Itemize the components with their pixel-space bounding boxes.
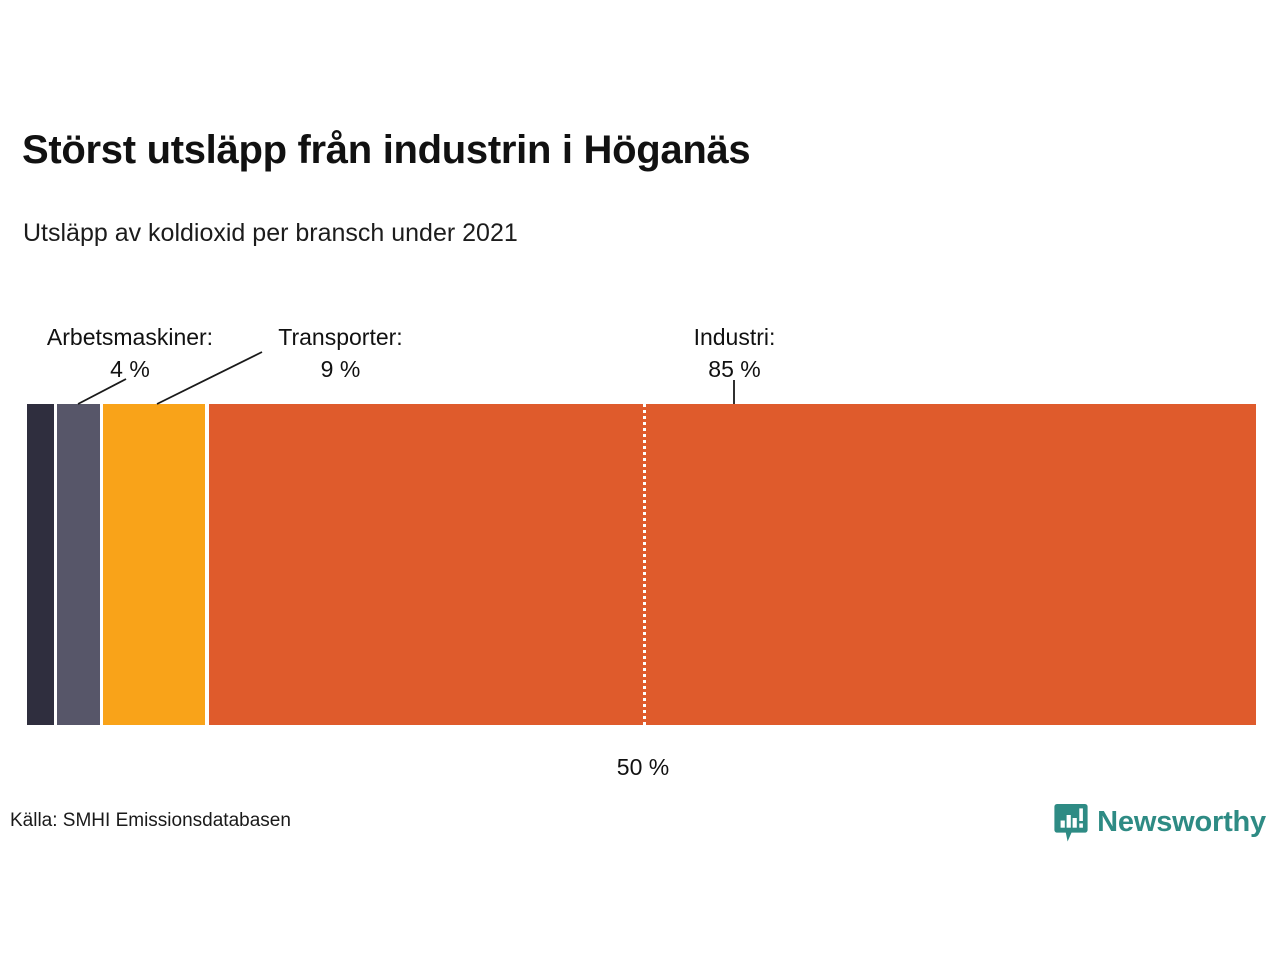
callout-arbetsmaskiner: Arbetsmaskiner: 4 % [20,321,240,385]
bar-segment-industri[interactable] [209,404,1256,725]
callout-transporter: Transporter: 9 % [248,321,433,385]
newsworthy-wordmark: Newsworthy [1097,806,1266,839]
callout-category-transporter: Transporter: [248,321,433,353]
newsworthy-bubble-chart-icon [1054,803,1088,843]
callout-category-arbetsmaskiner: Arbetsmaskiner: [20,321,240,353]
reference-line-label: 50 % [583,754,703,781]
callout-industri: Industri: 85 % [637,321,832,385]
reference-line-50 [643,404,646,725]
callout-value-arbetsmaskiner: 4 % [20,353,240,385]
callout-category-industri: Industri: [637,321,832,353]
callout-value-industri: 85 % [637,353,832,385]
bar-segment-arbetsmaskiner[interactable] [57,404,100,725]
bar-segment-egen-uppvarmning[interactable] [27,404,54,725]
newsworthy-logo[interactable]: Newsworthy [1054,800,1266,845]
source-note: Källa: SMHI Emissionsdatabasen [10,810,291,832]
bar-segment-transporter[interactable] [103,404,205,725]
callout-value-transporter: 9 % [248,353,433,385]
stacked-bar [27,404,1256,725]
